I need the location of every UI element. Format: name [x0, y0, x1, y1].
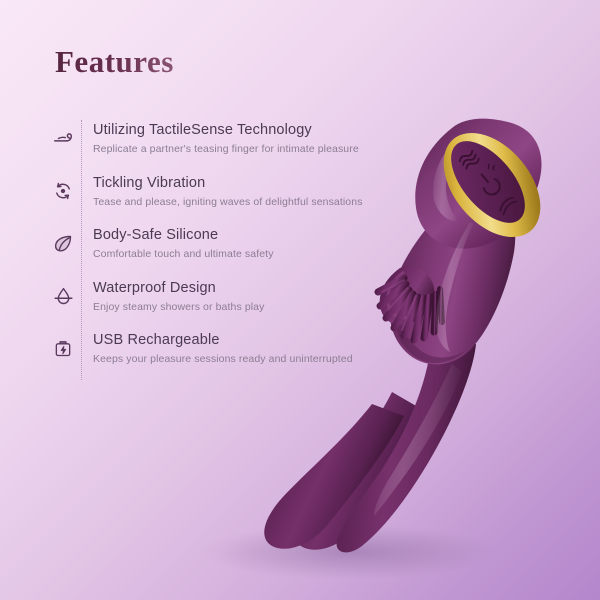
- feature-subtitle: Keeps your pleasure sessions ready and u…: [93, 353, 408, 366]
- feature-item-tactilesense: Utilizing TactileSense Technology Replic…: [48, 122, 408, 175]
- swiping-finger-icon: [48, 122, 78, 150]
- feature-list: Utilizing TactileSense Technology Replic…: [48, 122, 408, 385]
- feature-title: Utilizing TactileSense Technology: [93, 122, 408, 139]
- control-panel-bezel: [424, 115, 559, 256]
- power-button: [474, 162, 509, 197]
- feature-subtitle: Tease and please, igniting waves of deli…: [93, 196, 408, 209]
- feature-graphic: Features Utilizing TactileSense Technolo…: [0, 0, 600, 600]
- lower-shaft-gloss: [374, 364, 462, 516]
- water-drop-icon: [48, 280, 78, 307]
- feature-subtitle: Comfortable touch and ultimate safety: [93, 248, 408, 261]
- head-gloss: [433, 134, 462, 222]
- feature-subtitle: Enjoy steamy showers or baths play: [93, 301, 408, 314]
- bristle: [414, 298, 424, 340]
- bristle: [424, 297, 430, 338]
- feature-item-vibration: Tickling Vibration Tease and please, ign…: [48, 175, 408, 228]
- shaft-gloss: [436, 222, 474, 352]
- feature-title: USB Rechargeable: [93, 332, 408, 349]
- feature-item-waterproof: Waterproof Design Enjoy steamy showers o…: [48, 280, 408, 333]
- control-panel-buttons: [458, 145, 522, 215]
- wave-button: [498, 196, 518, 215]
- lower-prong-front: [264, 404, 404, 549]
- bristle: [434, 294, 436, 332]
- lower-prong-back: [293, 392, 430, 550]
- battery-charging-icon: [48, 332, 78, 358]
- control-panel: [437, 128, 538, 235]
- product-head: [415, 119, 541, 249]
- bristle: [440, 289, 442, 322]
- feature-item-silicone: Body-Safe Silicone Comfortable touch and…: [48, 227, 408, 280]
- pulse-button: [459, 149, 480, 170]
- vibration-rotation-icon: [48, 175, 78, 201]
- feature-item-usb: USB Rechargeable Keeps your pleasure ses…: [48, 332, 408, 385]
- page-title: Features: [55, 44, 174, 80]
- product-upper-shaft: [390, 198, 516, 364]
- product-shadow: [200, 524, 500, 580]
- feature-title: Waterproof Design: [93, 280, 408, 297]
- leaf-icon: [48, 227, 78, 254]
- feature-title: Body-Safe Silicone: [93, 227, 408, 244]
- feature-subtitle: Replicate a partner's teasing finger for…: [93, 143, 408, 156]
- feature-title: Tickling Vibration: [93, 175, 408, 192]
